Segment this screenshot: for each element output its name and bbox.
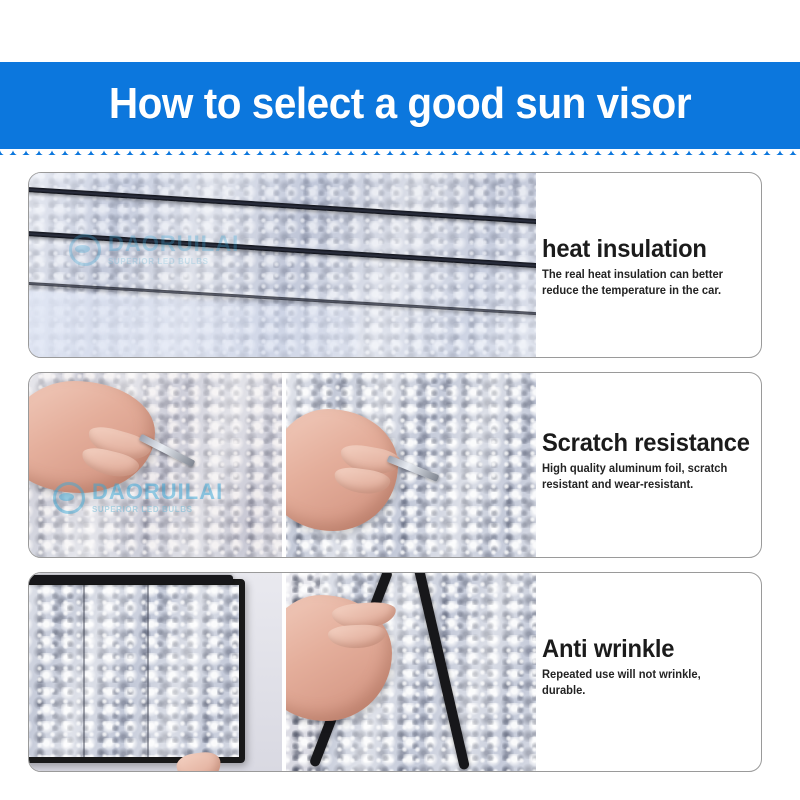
feature-text-block: Scratch resistance High quality aluminum… — [542, 373, 761, 557]
visor-fold-line — [83, 585, 85, 757]
feature-card-heat-insulation: DAORUILAI SUPERIOR LED BULBS heat insula… — [28, 172, 762, 358]
product-photo-scratch-right — [286, 373, 536, 557]
product-photo-scratch-left: DAORUILAI SUPERIOR LED BULBS — [29, 373, 282, 557]
feature-title: Scratch resistance — [542, 429, 750, 457]
feature-card-scratch-resistance: DAORUILAI SUPERIOR LED BULBS Scratch res… — [28, 372, 762, 558]
feature-title: heat insulation — [542, 235, 707, 263]
feature-description: High quality aluminum foil, scratch resi… — [542, 461, 746, 493]
feature-description: The real heat insulation can better redu… — [542, 267, 746, 299]
feature-text-block: heat insulation The real heat insulation… — [542, 173, 761, 357]
feature-media: DAORUILAI SUPERIOR LED BULBS — [29, 573, 536, 771]
feature-card-anti-wrinkle: DAORUILAI SUPERIOR LED BULBS Anti wrinkl… — [28, 572, 762, 772]
feature-media: DAORUILAI SUPERIOR LED BULBS — [29, 373, 536, 557]
product-photo-hand-bending-visor: DAORUILAI SUPERIOR LED BULBS — [286, 573, 536, 771]
feature-title: Anti wrinkle — [542, 635, 674, 663]
metallic-sheen-overlay — [29, 585, 239, 757]
product-photo-foil-layers: DAORUILAI SUPERIOR LED BULBS — [29, 173, 536, 357]
feature-text-block: Anti wrinkle Repeated use will not wrink… — [542, 573, 761, 771]
sun-visor-panel — [29, 579, 245, 763]
product-photo-visor-panel — [29, 573, 282, 771]
feature-description: Repeated use will not wrinkle, durable. — [542, 667, 746, 699]
feature-media: DAORUILAI SUPERIOR LED BULBS — [29, 173, 536, 357]
visor-fold-line — [147, 585, 149, 757]
banner-scalloped-edge — [0, 142, 800, 156]
header-banner: How to select a good sun visor — [0, 62, 800, 155]
page-title: How to select a good sun visor — [32, 78, 768, 130]
visor-top-trim — [29, 575, 233, 584]
